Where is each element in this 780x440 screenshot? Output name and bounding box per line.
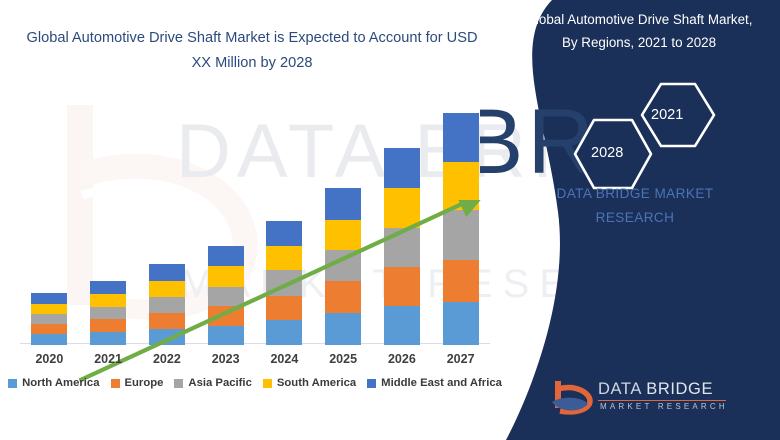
bar-segment-middle-east-and-africa — [325, 188, 361, 220]
bar-segment-south-america — [31, 304, 67, 314]
bar-segment-middle-east-and-africa — [208, 246, 244, 266]
legend-swatch-icon — [174, 379, 183, 388]
bar-segment-middle-east-and-africa — [90, 281, 126, 293]
legend-swatch-icon — [263, 379, 272, 388]
bar-segment-asia-pacific — [384, 228, 420, 267]
stacked-bar-chart — [20, 100, 490, 345]
brand-line-1: DATA BRIDGE MARKET — [510, 182, 760, 206]
bar-segment-north-america — [384, 306, 420, 345]
bar-segment-europe — [325, 281, 361, 312]
legend-label: Asia Pacific — [188, 377, 251, 389]
x-axis-label-2024: 2024 — [256, 352, 312, 366]
bar-segment-north-america — [90, 332, 126, 345]
bar-segment-asia-pacific — [31, 314, 67, 324]
legend-label: North America — [22, 377, 99, 389]
bar-segment-asia-pacific — [266, 270, 302, 295]
dbmr-logo-tagline: MARKET RESEARCH — [600, 402, 728, 411]
dbmr-logo-word-data: DATA — [598, 380, 641, 398]
bar-segment-south-america — [208, 266, 244, 286]
bar-segment-north-america — [149, 329, 185, 345]
bar-segment-asia-pacific — [208, 287, 244, 306]
bar-2025 — [325, 188, 361, 345]
bar-2027 — [443, 113, 479, 345]
bar-segment-europe — [149, 313, 185, 329]
x-axis-label-2023: 2023 — [198, 352, 254, 366]
bar-segment-north-america — [443, 302, 479, 345]
panel-title: Global Automotive Drive Shaft Market, By… — [520, 8, 758, 54]
x-axis-labels: 20202021202220232024202520262027 — [20, 352, 490, 370]
bar-2021 — [90, 281, 126, 345]
bar-segment-south-america — [443, 162, 479, 209]
hex-label-2028: 2028 — [591, 145, 623, 161]
bar-segment-middle-east-and-africa — [443, 113, 479, 162]
bar-segment-asia-pacific — [90, 307, 126, 319]
bar-2026 — [384, 148, 420, 345]
x-axis-label-2021: 2021 — [80, 352, 136, 366]
bar-segment-south-america — [90, 294, 126, 307]
legend-item-south-america[interactable]: South America — [263, 377, 356, 389]
bar-segment-europe — [90, 319, 126, 332]
dbmr-logo: DATA BRIDGE MARKET RESEARCH — [548, 378, 738, 420]
hexagon-badges: 2021 2028 — [568, 82, 728, 194]
bar-segment-south-america — [266, 246, 302, 270]
dbmr-logo-word-bridge: BRIDGE — [646, 380, 713, 398]
bar-segment-middle-east-and-africa — [31, 293, 67, 304]
infographic-root: DATA BRI MARKET RESEARCH Global Automoti… — [0, 0, 780, 440]
bar-segment-asia-pacific — [325, 250, 361, 281]
x-axis-label-2022: 2022 — [139, 352, 195, 366]
brand-line-2: RESEARCH — [510, 206, 760, 230]
bar-segment-south-america — [149, 281, 185, 297]
bar-segment-asia-pacific — [149, 297, 185, 313]
bar-segment-middle-east-and-africa — [266, 221, 302, 246]
hexagon-outlines-icon — [568, 82, 728, 194]
bar-segment-europe — [208, 306, 244, 326]
legend-label: Europe — [125, 377, 164, 389]
bar-group — [20, 100, 490, 345]
panel-brand-text: DATA BRIDGE MARKET RESEARCH — [510, 182, 760, 230]
legend-item-north-america[interactable]: North America — [8, 377, 99, 389]
x-axis-label-2020: 2020 — [21, 352, 77, 366]
bar-2023 — [208, 246, 244, 345]
bar-segment-north-america — [31, 334, 67, 345]
bar-segment-north-america — [266, 320, 302, 345]
dbmr-logo-wordmark: DATA BRIDGE — [598, 380, 713, 399]
bar-segment-europe — [384, 267, 420, 305]
legend-item-asia-pacific[interactable]: Asia Pacific — [174, 377, 251, 389]
page-title: Global Automotive Drive Shaft Market is … — [22, 26, 482, 76]
bar-segment-europe — [31, 324, 67, 334]
bar-segment-europe — [266, 296, 302, 320]
bar-segment-middle-east-and-africa — [149, 264, 185, 280]
legend-item-europe[interactable]: Europe — [111, 377, 164, 389]
bar-segment-europe — [443, 260, 479, 301]
legend-swatch-icon — [111, 379, 120, 388]
bar-segment-middle-east-and-africa — [384, 148, 420, 187]
bar-segment-south-america — [325, 220, 361, 250]
legend-swatch-icon — [8, 379, 17, 388]
dbmr-logo-mark-icon — [548, 378, 596, 418]
bar-segment-asia-pacific — [443, 210, 479, 260]
bar-2020 — [31, 293, 67, 345]
bar-2024 — [266, 221, 302, 345]
bar-2022 — [149, 264, 185, 345]
bar-segment-south-america — [384, 188, 420, 228]
legend-swatch-icon — [367, 379, 376, 388]
x-axis-label-2026: 2026 — [374, 352, 430, 366]
bar-segment-north-america — [325, 313, 361, 345]
hex-label-2021: 2021 — [651, 107, 683, 123]
right-side-panel: BR Global Automotive Drive Shaft Market,… — [480, 0, 780, 440]
chart-legend: North AmericaEuropeAsia PacificSouth Ame… — [0, 377, 510, 389]
legend-label: South America — [277, 377, 356, 389]
bar-segment-north-america — [208, 326, 244, 345]
x-axis-label-2025: 2025 — [315, 352, 371, 366]
